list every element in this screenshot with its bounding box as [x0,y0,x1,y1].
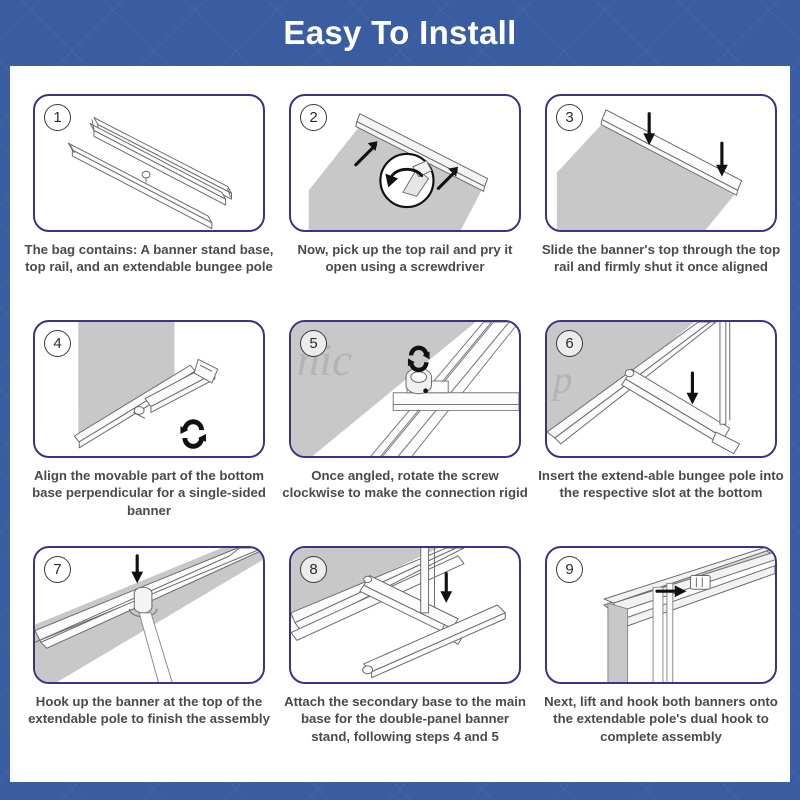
step-panel-1[interactable]: 1 [33,94,265,232]
step-panel-8[interactable]: 8 [289,546,521,684]
step-panel-3[interactable]: 3 [545,94,777,232]
step-number-5: 5 [300,330,327,357]
step-caption-2: Now, pick up the top rail and pry it ope… [280,241,530,276]
step-number-2: 2 [300,104,327,131]
step-caption-6: Insert the extend-able bungee pole into … [536,467,786,502]
step-caption-9: Next, lift and hook both banners onto th… [536,693,786,745]
step-caption-1: The bag contains: A banner stand base, t… [24,241,274,276]
step-caption-5: Once angled, rotate the screw clockwise … [280,467,530,502]
content-sheet: 1 The bag contains: A banner stand base,… [10,66,790,782]
step-caption-7: Hook up the banner at the top of the ext… [24,693,274,728]
step-cell-1: 1 The bag contains: A banner stand base,… [24,94,274,316]
step-cell-7: 7 Hook up the banner at the top of the e… [24,546,274,768]
step-panel-2[interactable]: 2 [289,94,521,232]
step-panel-9[interactable]: 9 [545,546,777,684]
step-cell-8: 8 Attach the secondary base to the main … [280,546,530,768]
step-number-4: 4 [44,330,71,357]
step-panel-5[interactable]: nic [289,320,521,458]
step-cell-9: 9 Next, lift and hook both banners onto … [536,546,786,768]
step-panel-4[interactable]: 4 [33,320,265,458]
step-caption-3: Slide the banner's top through the top r… [536,241,786,276]
step-cell-2: 2 Now, pick up the top rail and pry it o… [280,94,530,316]
step-number-9: 9 [556,556,583,583]
page-title: Easy To Install [283,14,516,52]
step-number-7: 7 [44,556,71,583]
step-number-8: 8 [300,556,327,583]
step-panel-7[interactable]: 7 [33,546,265,684]
step-number-6: 6 [556,330,583,357]
steps-grid: 1 The bag contains: A banner stand base,… [10,66,790,782]
step-cell-3: 3 Slide the banner's top through the top… [536,94,786,316]
step-caption-8: Attach the secondary base to the main ba… [280,693,530,745]
step-cell-4: 4 Align the movable part of the bottom b… [24,320,274,542]
watermark-text-2: p [550,358,573,402]
step-cell-5: nic [280,320,530,542]
poster-page: Easy To Install [0,0,800,800]
rotate-icon [180,419,206,448]
poster-header: Easy To Install [0,0,800,66]
step-cell-6: p [536,320,786,542]
step-caption-4: Align the movable part of the bottom bas… [24,467,274,519]
step-number-1: 1 [44,104,71,131]
step-number-3: 3 [556,104,583,131]
step-panel-6[interactable]: p [545,320,777,458]
